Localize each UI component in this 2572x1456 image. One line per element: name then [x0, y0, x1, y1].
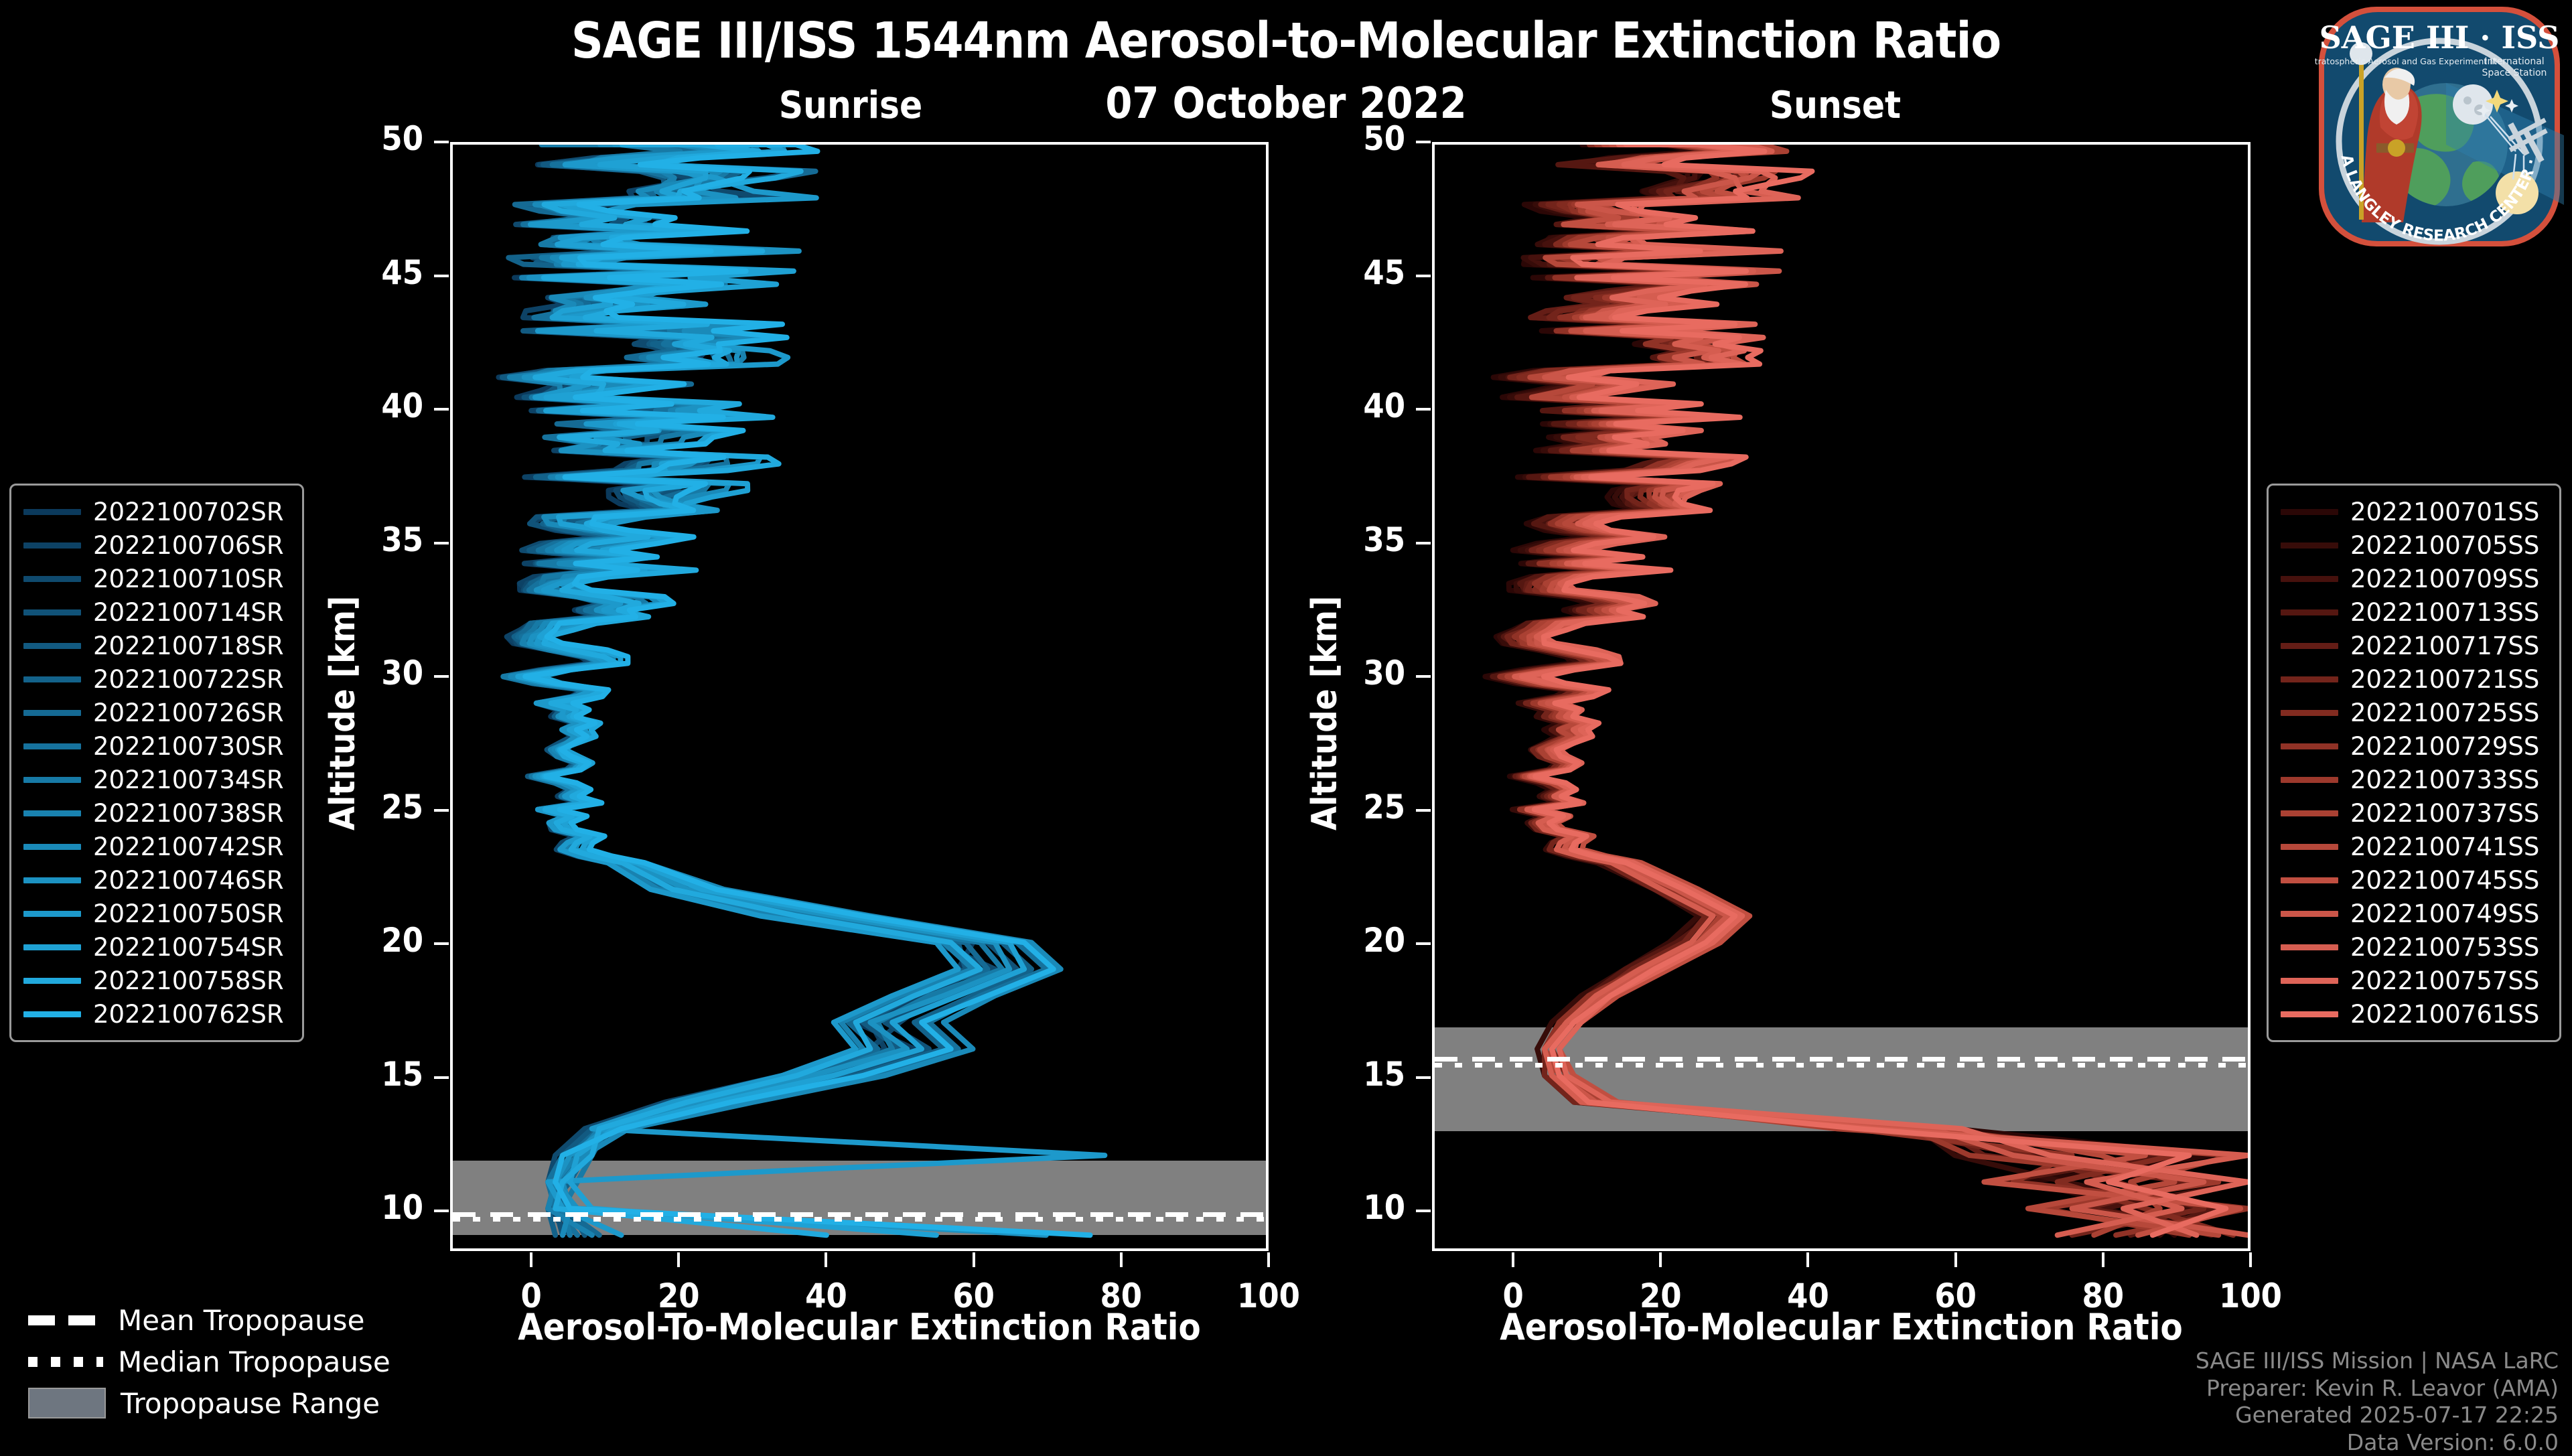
legend-label: 2022100738SR	[93, 799, 284, 828]
legend-label: 2022100749SS	[2350, 899, 2539, 928]
y-tick-mark-sunset-15	[1416, 1076, 1431, 1079]
legend-color-swatch-icon	[2281, 810, 2338, 816]
legend-item-2022100745SS[interactable]: 2022100745SS	[2275, 863, 2553, 897]
legend-color-swatch-icon	[2281, 1011, 2338, 1017]
legend-color-swatch-icon	[23, 710, 81, 716]
legend-item-2022100738SR[interactable]: 2022100738SR	[18, 796, 295, 830]
profile-curves-sunrise	[453, 145, 1266, 1248]
legend-color-swatch-icon	[2281, 643, 2338, 649]
legend-item-2022100701SS[interactable]: 2022100701SS	[2275, 495, 2553, 528]
legend-label: 2022100737SS	[2350, 799, 2539, 828]
plot-area-sunrise	[450, 142, 1269, 1251]
legend-item-median-tropopause: Median Tropopause	[13, 1341, 429, 1382]
legend-label: 2022100713SS	[2350, 598, 2539, 627]
legend-sunrise: 2022100702SR2022100706SR2022100710SR2022…	[9, 484, 304, 1042]
y-tick-label-sunrise-40: 40	[343, 386, 423, 425]
y-tick-mark-sunrise-35	[434, 542, 449, 544]
legend-item-2022100726SR[interactable]: 2022100726SR	[18, 696, 295, 729]
profile-line-2022100757SS	[1522, 145, 2248, 1235]
legend-color-swatch-icon	[23, 911, 81, 917]
legend-label: 2022100709SS	[2350, 565, 2539, 593]
legend-item-2022100721SS[interactable]: 2022100721SS	[2275, 662, 2553, 696]
legend-color-swatch-icon	[23, 844, 81, 850]
panel-title-sunrise: Sunrise	[683, 84, 1018, 127]
median-tropopause-line-icon	[28, 1357, 103, 1367]
legend-color-swatch-icon	[2281, 911, 2338, 917]
legend-item-2022100758SR[interactable]: 2022100758SR	[18, 964, 295, 997]
legend-item-2022100737SS[interactable]: 2022100737SS	[2275, 796, 2553, 830]
tropopause-legend: Mean Tropopause Median Tropopause Tropop…	[13, 1299, 429, 1424]
y-tick-mark-sunrise-45	[434, 275, 449, 277]
y-tick-mark-sunset-25	[1416, 809, 1431, 812]
legend-color-swatch-icon	[23, 877, 81, 883]
legend-color-swatch-icon	[2281, 844, 2338, 850]
legend-label: 2022100741SS	[2350, 832, 2539, 861]
legend-item-2022100709SS[interactable]: 2022100709SS	[2275, 562, 2553, 595]
y-tick-label-sunset-20: 20	[1325, 921, 1405, 960]
y-tick-mark-sunset-10	[1416, 1210, 1431, 1212]
y-tick-mark-sunrise-30	[434, 675, 449, 678]
y-tick-label-sunrise-35: 35	[343, 520, 423, 559]
mean-tropopause-line-icon	[28, 1315, 103, 1325]
legend-item-2022100730SR[interactable]: 2022100730SR	[18, 729, 295, 763]
legend-item-2022100734SR[interactable]: 2022100734SR	[18, 763, 295, 796]
legend-label: 2022100762SR	[93, 1000, 284, 1029]
legend-item-2022100714SR[interactable]: 2022100714SR	[18, 595, 295, 629]
legend-item-2022100741SS[interactable]: 2022100741SS	[2275, 830, 2553, 863]
mean-tropopause-line-sunset	[1435, 1057, 2248, 1062]
y-tick-label-sunrise-20: 20	[343, 921, 423, 960]
y-tick-mark-sunset-35	[1416, 542, 1431, 544]
legend-color-swatch-icon	[2281, 509, 2338, 515]
y-tick-label-sunrise-45: 45	[343, 253, 423, 292]
legend-label: 2022100753SS	[2350, 933, 2539, 962]
y-tick-label-sunset-40: 40	[1325, 386, 1405, 425]
y-tick-mark-sunset-20	[1416, 942, 1431, 945]
legend-item-2022100718SR[interactable]: 2022100718SR	[18, 629, 295, 662]
legend-label: 2022100742SR	[93, 832, 284, 861]
y-axis-label-sunset: Altitude [km]	[1305, 596, 1345, 830]
legend-color-swatch-icon	[2281, 542, 2338, 549]
y-tick-mark-sunrise-25	[434, 809, 449, 812]
credit-mission: SAGE III/ISS Mission | NASA LaRC	[2196, 1348, 2559, 1375]
median-tropopause-line-sunrise	[453, 1217, 1266, 1222]
legend-color-swatch-icon	[23, 576, 81, 582]
legend-label: 2022100746SR	[93, 866, 284, 895]
y-tick-mark-sunset-40	[1416, 408, 1431, 411]
legend-item-2022100733SS[interactable]: 2022100733SS	[2275, 763, 2553, 796]
x-tick-mark-sunrise-40	[825, 1252, 827, 1267]
legend-item-mean-tropopause: Mean Tropopause	[13, 1299, 429, 1341]
x-tick-mark-sunrise-0	[530, 1252, 532, 1267]
legend-color-swatch-icon	[2281, 743, 2338, 749]
legend-color-swatch-icon	[23, 643, 81, 649]
legend-label-mean-tropopause: Mean Tropopause	[118, 1304, 364, 1337]
y-tick-label-sunrise-15: 15	[343, 1055, 423, 1094]
y-tick-label-sunset-35: 35	[1325, 520, 1405, 559]
y-tick-mark-sunrise-15	[434, 1076, 449, 1079]
x-tick-mark-sunset-80	[2102, 1252, 2104, 1267]
legend-color-swatch-icon	[23, 944, 81, 950]
legend-color-swatch-icon	[2281, 576, 2338, 582]
legend-item-2022100729SS[interactable]: 2022100729SS	[2275, 729, 2553, 763]
x-tick-mark-sunrise-60	[973, 1252, 975, 1267]
legend-color-swatch-icon	[2281, 609, 2338, 615]
median-tropopause-line-sunset	[1435, 1063, 2248, 1068]
x-tick-mark-sunset-40	[1806, 1252, 1809, 1267]
mean-tropopause-line-sunrise	[453, 1212, 1266, 1217]
patch-title: SAGE III · ISS	[2319, 19, 2560, 56]
patch-subtitle-right-2: Space Station	[2482, 68, 2547, 78]
legend-label: 2022100745SS	[2350, 866, 2539, 895]
legend-color-swatch-icon	[23, 1011, 81, 1017]
legend-label: 2022100726SR	[93, 699, 284, 727]
legend-color-swatch-icon	[2281, 978, 2338, 984]
legend-label: 2022100730SR	[93, 732, 284, 761]
legend-item-2022100742SR[interactable]: 2022100742SR	[18, 830, 295, 863]
x-axis-label-sunrise: Aerosol-To-Molecular Extinction Ratio	[450, 1306, 1269, 1348]
legend-label: 2022100701SS	[2350, 498, 2539, 526]
legend-color-swatch-icon	[2281, 777, 2338, 783]
credit-generated: Generated 2025-07-17 22:25	[2196, 1402, 2559, 1429]
y-tick-label-sunset-45: 45	[1325, 253, 1405, 292]
legend-item-2022100725SS[interactable]: 2022100725SS	[2275, 696, 2553, 729]
sage-iii-iss-mission-patch-logo: SAGE III · ISS Stratospheric Aerosol and…	[2315, 4, 2564, 250]
y-tick-mark-sunrise-50	[434, 141, 449, 143]
legend-label: 2022100733SS	[2350, 766, 2539, 794]
legend-label: 2022100757SS	[2350, 966, 2539, 995]
legend-item-2022100702SR[interactable]: 2022100702SR	[18, 495, 295, 528]
legend-item-2022100710SR[interactable]: 2022100710SR	[18, 562, 295, 595]
panel-title-sunset: Sunset	[1668, 84, 2003, 127]
legend-color-swatch-icon	[2281, 944, 2338, 950]
legend-item-2022100706SR[interactable]: 2022100706SR	[18, 528, 295, 562]
legend-item-2022100749SS[interactable]: 2022100749SS	[2275, 897, 2553, 930]
tropopause-range-swatch-icon	[28, 1388, 106, 1418]
y-tick-label-sunset-15: 15	[1325, 1055, 1405, 1094]
x-tick-mark-sunrise-20	[677, 1252, 680, 1267]
legend-color-swatch-icon	[23, 509, 81, 515]
legend-color-swatch-icon	[23, 810, 81, 816]
y-tick-mark-sunset-50	[1416, 141, 1431, 143]
x-tick-mark-sunrise-100	[1267, 1252, 1270, 1267]
legend-item-2022100757SS[interactable]: 2022100757SS	[2275, 964, 2553, 997]
legend-label: 2022100714SR	[93, 598, 284, 627]
x-axis-label-sunset: Aerosol-To-Molecular Extinction Ratio	[1432, 1306, 2250, 1348]
legend-label: 2022100717SS	[2350, 632, 2539, 660]
y-tick-mark-sunrise-20	[434, 942, 449, 945]
legend-item-2022100761SS[interactable]: 2022100761SS	[2275, 997, 2553, 1031]
y-tick-label-sunrise-50: 50	[343, 119, 423, 158]
y-tick-label-sunrise-10: 10	[343, 1188, 423, 1227]
legend-color-swatch-icon	[23, 609, 81, 615]
legend-sunset: 2022100701SS2022100705SS2022100709SS2022…	[2267, 484, 2561, 1042]
credit-data-version: Data Version: 6.0.0	[2196, 1429, 2559, 1456]
legend-color-swatch-icon	[23, 676, 81, 682]
y-tick-mark-sunrise-40	[434, 408, 449, 411]
legend-color-swatch-icon	[23, 777, 81, 783]
legend-color-swatch-icon	[2281, 710, 2338, 716]
legend-label: 2022100750SR	[93, 899, 284, 928]
legend-color-swatch-icon	[2281, 676, 2338, 682]
legend-color-swatch-icon	[23, 743, 81, 749]
legend-label: 2022100754SR	[93, 933, 284, 962]
legend-label: 2022100758SR	[93, 966, 284, 995]
x-tick-mark-sunrise-80	[1120, 1252, 1123, 1267]
legend-item-tropopause-range: Tropopause Range	[13, 1382, 429, 1424]
legend-item-2022100705SS[interactable]: 2022100705SS	[2275, 528, 2553, 562]
x-tick-mark-sunset-20	[1659, 1252, 1662, 1267]
y-tick-label-sunset-50: 50	[1325, 119, 1405, 158]
x-tick-mark-sunset-100	[2249, 1252, 2252, 1267]
x-tick-mark-sunset-60	[1954, 1252, 1957, 1267]
legend-label: 2022100734SR	[93, 766, 284, 794]
profile-curves-sunset	[1435, 145, 2248, 1248]
legend-label: 2022100729SS	[2350, 732, 2539, 761]
patch-subtitle-left: Stratospheric Aerosol and Gas Experiment…	[2315, 56, 2497, 66]
credits-block: SAGE III/ISS Mission | NASA LaRC Prepare…	[2196, 1348, 2559, 1456]
legend-item-2022100750SR[interactable]: 2022100750SR	[18, 897, 295, 930]
legend-label: 2022100725SS	[2350, 699, 2539, 727]
legend-label: 2022100718SR	[93, 632, 284, 660]
legend-label: 2022100706SR	[93, 531, 284, 560]
legend-color-swatch-icon	[2281, 877, 2338, 883]
legend-item-2022100713SS[interactable]: 2022100713SS	[2275, 595, 2553, 629]
page-title: SAGE III/ISS 1544nm Aerosol-to-Molecular…	[0, 12, 2572, 70]
legend-label-median-tropopause: Median Tropopause	[118, 1345, 390, 1378]
legend-color-swatch-icon	[23, 978, 81, 984]
credit-preparer: Preparer: Kevin R. Leavor (AMA)	[2196, 1375, 2559, 1402]
legend-label: 2022100761SS	[2350, 1000, 2539, 1029]
y-tick-mark-sunset-30	[1416, 675, 1431, 678]
legend-label: 2022100705SS	[2350, 531, 2539, 560]
y-axis-label-sunrise: Altitude [km]	[323, 596, 363, 830]
legend-item-2022100762SR[interactable]: 2022100762SR	[18, 997, 295, 1031]
legend-label: 2022100721SS	[2350, 665, 2539, 694]
legend-item-2022100746SR[interactable]: 2022100746SR	[18, 863, 295, 897]
legend-color-swatch-icon	[23, 542, 81, 549]
legend-item-2022100717SS[interactable]: 2022100717SS	[2275, 629, 2553, 662]
legend-label: 2022100702SR	[93, 498, 284, 526]
patch-subtitle-right-1: International	[2484, 56, 2544, 67]
y-tick-mark-sunset-45	[1416, 275, 1431, 277]
plot-area-sunset	[1432, 142, 2250, 1251]
legend-item-2022100753SS[interactable]: 2022100753SS	[2275, 930, 2553, 964]
legend-item-2022100754SR[interactable]: 2022100754SR	[18, 930, 295, 964]
y-tick-mark-sunrise-10	[434, 1210, 449, 1212]
legend-item-2022100722SR[interactable]: 2022100722SR	[18, 662, 295, 696]
legend-label-tropopause-range: Tropopause Range	[121, 1387, 380, 1420]
x-tick-mark-sunset-0	[1512, 1252, 1514, 1267]
legend-label: 2022100710SR	[93, 565, 284, 593]
legend-label: 2022100722SR	[93, 665, 284, 694]
y-tick-label-sunset-10: 10	[1325, 1188, 1405, 1227]
